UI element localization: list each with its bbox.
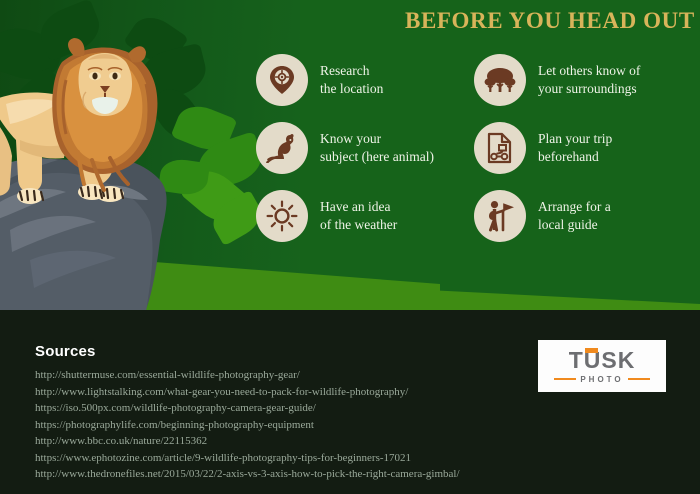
source-link[interactable]: https://photographylife.com/beginning-ph… — [35, 417, 460, 434]
tip-item-research-location[interactable]: Research the location — [256, 54, 383, 106]
logo-secondary-row: PHOTO — [554, 375, 649, 384]
logo-primary-label: TUSK — [569, 347, 636, 373]
tip-label-line1: Have an idea — [320, 198, 397, 216]
tip-icon-circle — [474, 190, 526, 242]
source-link[interactable]: http://www.lightstalking.com/what-gear-y… — [35, 384, 460, 401]
logo-accent-bar — [585, 348, 598, 353]
tip-icon-circle — [474, 122, 526, 174]
tip-item-plan-your-trip[interactable]: Plan your trip beforehand — [474, 122, 612, 174]
tip-icon-circle — [256, 190, 308, 242]
sun-weather-icon — [266, 200, 298, 232]
tip-label-line2: your surroundings — [538, 80, 640, 98]
sources-heading: Sources — [35, 343, 96, 360]
tip-label: Have an idea of the weather — [320, 198, 397, 234]
tip-label-line1: Plan your trip — [538, 130, 612, 148]
source-link[interactable]: http://www.bbc.co.uk/nature/22115362 — [35, 433, 460, 450]
plan-document-icon — [486, 132, 514, 164]
tip-item-let-others-know[interactable]: Let others know of your surroundings — [474, 54, 640, 106]
tip-label-line1: Let others know of — [538, 62, 640, 80]
source-link[interactable]: http://www.thedronefiles.net/2015/03/22/… — [35, 466, 460, 483]
tip-label-line1: Research — [320, 62, 383, 80]
tip-item-know-your-subject[interactable]: Know your subject (here animal) — [256, 122, 434, 174]
source-link[interactable]: http://shuttermuse.com/essential-wildlif… — [35, 367, 460, 384]
tip-icon-circle — [256, 54, 308, 106]
tip-label: Research the location — [320, 62, 383, 98]
kangaroo-animal-icon — [266, 133, 298, 163]
tip-label: Arrange for a local guide — [538, 198, 611, 234]
tip-icon-circle — [474, 54, 526, 106]
source-link[interactable]: https://iso.500px.com/wildlife-photograp… — [35, 400, 460, 417]
logo-rule-right — [628, 378, 650, 380]
logo-secondary-label: PHOTO — [580, 375, 623, 384]
tip-icon-circle — [256, 122, 308, 174]
map-pin-location-icon — [268, 65, 296, 95]
tip-label-line2: beforehand — [538, 148, 612, 166]
guide-person-flag-icon — [485, 200, 515, 232]
footer-section: Sources http://shuttermuse.com/essential… — [0, 310, 700, 494]
trees-icon — [484, 66, 516, 94]
logo-rule-left — [554, 378, 576, 380]
tip-label-line2: the location — [320, 80, 383, 98]
infographic-page: BEFORE YOU HEAD OUT Research the locatio… — [0, 0, 700, 494]
tip-label-line1: Arrange for a — [538, 198, 611, 216]
tip-label-line2: of the weather — [320, 216, 397, 234]
tip-label-line2: subject (here animal) — [320, 148, 434, 166]
tip-label: Plan your trip beforehand — [538, 130, 612, 166]
sources-list: http://shuttermuse.com/essential-wildlif… — [35, 367, 460, 483]
tusk-photo-logo[interactable]: TUSK PHOTO — [538, 340, 666, 392]
tip-item-local-guide[interactable]: Arrange for a local guide — [474, 190, 611, 242]
source-link[interactable]: https://www.ephotozine.com/article/9-wil… — [35, 450, 460, 467]
tip-label-line1: Know your — [320, 130, 434, 148]
tips-grid: Research the location L — [250, 52, 700, 302]
logo-primary-text: TUSK — [569, 349, 636, 372]
tip-label: Let others know of your surroundings — [538, 62, 640, 98]
tip-label-line2: local guide — [538, 216, 611, 234]
tip-label: Know your subject (here animal) — [320, 130, 434, 166]
page-title: BEFORE YOU HEAD OUT — [405, 8, 690, 34]
tip-item-weather[interactable]: Have an idea of the weather — [256, 190, 397, 242]
lion-on-rock-illustration — [0, 0, 250, 310]
